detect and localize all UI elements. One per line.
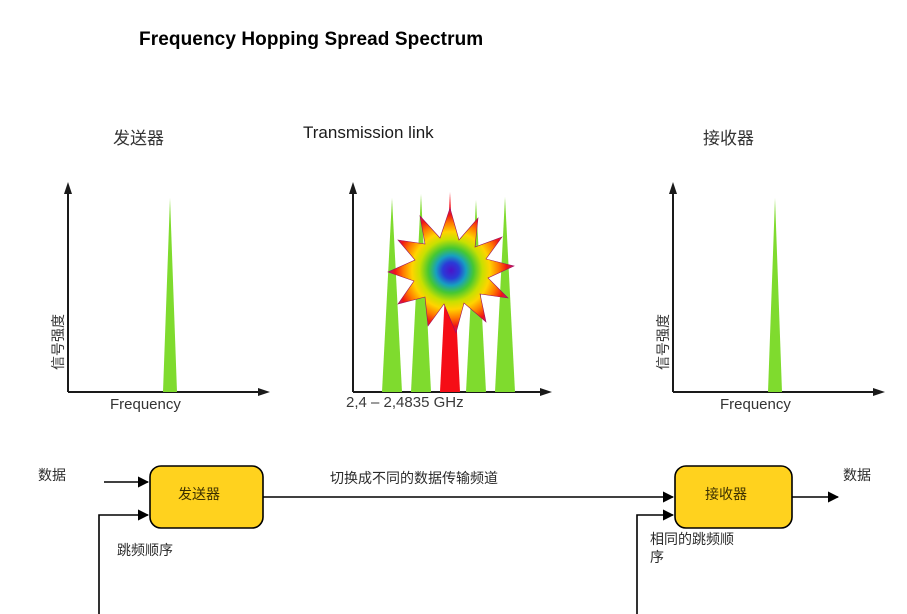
transmitter-x-axis-label: Frequency [110,396,181,413]
x-axis-arrow-icon [873,388,885,396]
transmission-link-spectrum-chart [340,180,565,405]
hopping-sequence-tx-label: 跳频顺序 [117,540,173,560]
block-diagram [0,440,907,614]
y-axis-arrow-icon [349,182,357,194]
receiver-x-axis-label: Frequency [720,396,791,413]
x-axis-arrow-icon [540,388,552,396]
page-title: Frequency Hopping Spread Spectrum [139,29,483,51]
fhss-diagram-page: Frequency Hopping Spread Spectrum 发送器 Tr… [0,0,907,614]
transmitter-y-axis-label: 信号强度 [48,314,68,370]
y-axis-arrow-icon [669,182,677,194]
transmitter-caption: 发送器 [113,124,164,149]
data-output-label: 数据 [843,465,871,485]
receiver-y-axis-label: 信号强度 [653,314,673,370]
spectrum-spike-channel-1 [382,198,402,392]
arrow-hopping-sequence-tx [99,515,148,614]
y-axis-arrow-icon [64,182,72,194]
spectrum-spike [768,198,782,392]
spectrum-spike [163,198,177,392]
collision-starburst-icon [388,208,514,333]
receiver-spectrum-chart [660,180,890,405]
channel-switch-label: 切换成不同的数据传输频道 [330,468,498,488]
data-input-label: 数据 [38,465,66,485]
transmission-link-caption: Transmission link [303,123,434,143]
receiver-box-label: 接收器 [705,484,747,504]
transmitter-spectrum-chart [55,180,285,405]
x-axis-arrow-icon [258,388,270,396]
hopping-sequence-rx-label: 相同的跳频顺序 [650,531,734,566]
receiver-caption: 接收器 [703,124,754,149]
transmission-link-x-axis-label: 2,4 – 2,4835 GHz [346,394,464,411]
transmitter-box-label: 发送器 [178,484,220,504]
